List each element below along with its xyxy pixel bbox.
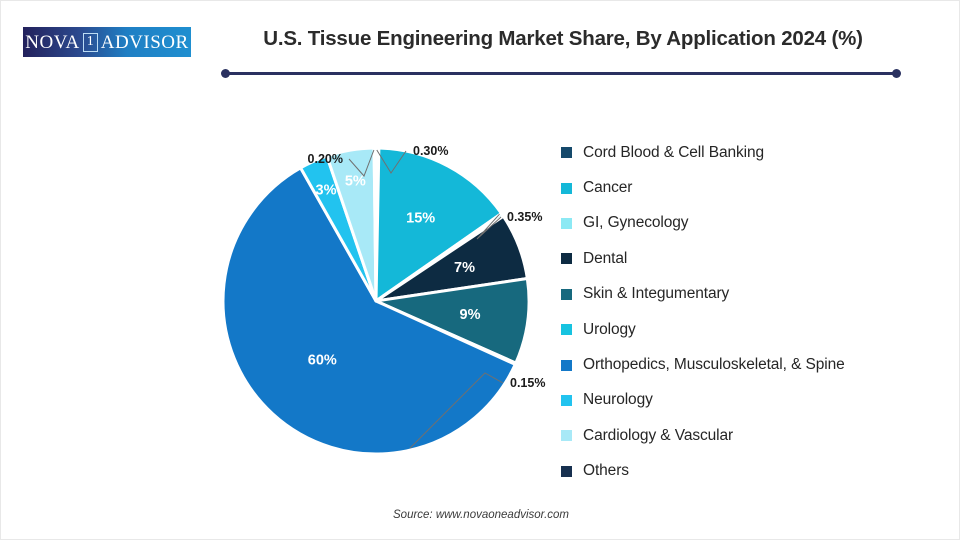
legend-item-label: Skin & Integumentary: [583, 285, 729, 303]
legend-item-label: GI, Gynecology: [583, 214, 688, 232]
legend-item-label: Urology: [583, 321, 636, 339]
pie-outside-label: 0.30%: [413, 144, 448, 158]
legend-item[interactable]: Urology: [561, 312, 953, 347]
pie-outside-label: 0.20%: [308, 152, 343, 166]
logo-word-nova: NOVA: [25, 33, 79, 52]
pie-chart-svg: 15%7%9%60%3%5% 0.30%0.20%0.35%0.15%: [201, 121, 561, 491]
legend-item-label: Cord Blood & Cell Banking: [583, 144, 764, 162]
pie-slice-label: 9%: [460, 307, 481, 323]
legend-swatch-icon: [561, 395, 572, 406]
legend-item-label: Orthopedics, Musculoskeletal, & Spine: [583, 356, 845, 374]
legend-swatch-icon: [561, 253, 572, 264]
pie-slice-label: 7%: [454, 260, 475, 276]
pie-slice[interactable]: [374, 148, 376, 301]
legend-swatch-icon: [561, 147, 572, 158]
page-title: U.S. Tissue Engineering Market Share, By…: [207, 27, 919, 51]
legend-swatch-icon: [561, 360, 572, 371]
legend-swatch-icon: [561, 324, 572, 335]
nova-one-advisor-logo: NOVA 1 ADVISOR: [23, 27, 191, 57]
pie-slices: [223, 148, 529, 454]
legend-item-label: Cancer: [583, 179, 632, 197]
title-divider: [221, 69, 901, 78]
legend-item-label: Cardiology & Vascular: [583, 427, 733, 445]
pie-chart: 15%7%9%60%3%5% 0.30%0.20%0.35%0.15%: [201, 121, 561, 491]
legend-item[interactable]: Cord Blood & Cell Banking: [561, 135, 953, 170]
source-caption: Source: www.novaoneadvisor.com: [1, 509, 960, 521]
legend-swatch-icon: [561, 430, 572, 441]
legend-item[interactable]: Dental: [561, 241, 953, 276]
pie-slice-label: 5%: [345, 173, 366, 189]
pie-slice-label: 60%: [308, 353, 337, 369]
legend-item[interactable]: GI, Gynecology: [561, 206, 953, 241]
legend-item[interactable]: Skin & Integumentary: [561, 277, 953, 312]
legend-item-label: Neurology: [583, 391, 653, 409]
divider-dot-right: [892, 69, 901, 78]
pie-outside-label: 0.35%: [507, 210, 542, 224]
legend-swatch-icon: [561, 183, 572, 194]
legend-item-label: Others: [583, 462, 629, 480]
pie-slice-label: 15%: [406, 210, 435, 226]
legend-item-label: Dental: [583, 250, 627, 268]
legend-item[interactable]: Orthopedics, Musculoskeletal, & Spine: [561, 347, 953, 382]
legend-item[interactable]: Neurology: [561, 383, 953, 418]
pie-outside-label: 0.15%: [510, 376, 545, 390]
chart-page: NOVA 1 ADVISOR U.S. Tissue Engineering M…: [0, 0, 960, 540]
logo-boxed-one: 1: [83, 33, 98, 52]
chart-legend: Cord Blood & Cell BankingCancerGI, Gynec…: [561, 135, 953, 489]
legend-item[interactable]: Others: [561, 454, 953, 489]
legend-swatch-icon: [561, 218, 572, 229]
legend-item[interactable]: Cancer: [561, 170, 953, 205]
logo-word-advisor: ADVISOR: [101, 33, 189, 52]
legend-swatch-icon: [561, 289, 572, 300]
divider-line: [225, 72, 897, 75]
legend-swatch-icon: [561, 466, 572, 477]
pie-slice-label: 3%: [316, 182, 337, 198]
legend-item[interactable]: Cardiology & Vascular: [561, 418, 953, 453]
